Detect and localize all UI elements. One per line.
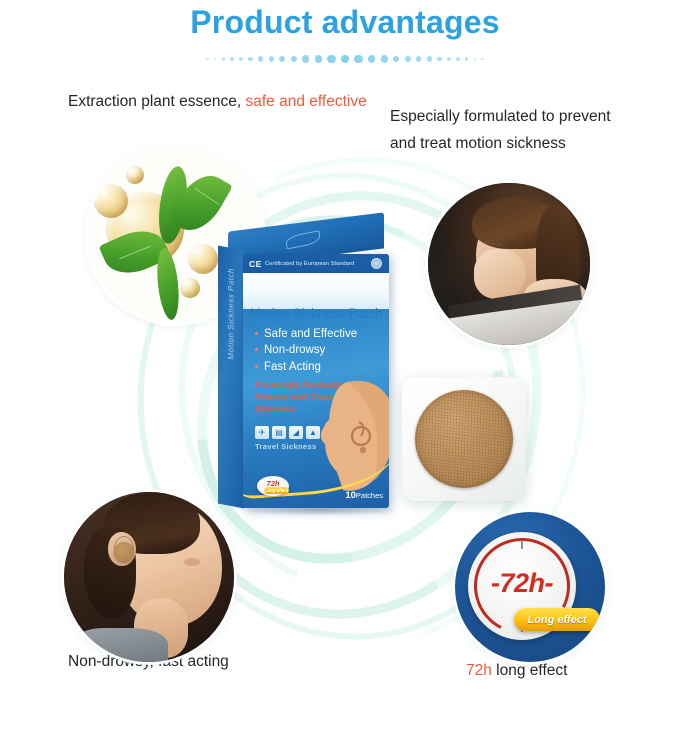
- divider-dot: [214, 58, 217, 61]
- divider-dot: [279, 56, 285, 62]
- patch-count: 10Patches: [345, 490, 383, 501]
- caption-bottom-right: 72h long effect: [466, 657, 676, 684]
- divider-dot: [327, 55, 335, 63]
- long-effect-ribbon: Long effect: [514, 608, 600, 631]
- box-product-title: Motion Sickness Patch: [243, 306, 389, 321]
- box-72h-badge: 72h Long effect: [257, 476, 289, 496]
- caption-top-left: Extraction plant essence, safe and effec…: [68, 88, 373, 115]
- caption-top-left-plain: Extraction plant essence,: [68, 93, 246, 110]
- divider-dot: [405, 56, 411, 62]
- caption-bottom-right-plain: long effect: [492, 662, 568, 679]
- certification-seal-icon: [371, 258, 382, 269]
- box-benefit-list: Safe and EffectiveNon-drowsyFast Acting: [255, 326, 357, 375]
- divider-dot: [341, 55, 350, 64]
- patch-pad: [415, 390, 513, 488]
- badge-hours-label: -72h-: [468, 568, 576, 599]
- divider-dot: [269, 56, 275, 62]
- box-benefit-item: Non-drowsy: [255, 342, 357, 358]
- box-front-face: CE Certificated by European Standard Mot…: [243, 254, 389, 508]
- caption-top-left-highlight: safe and effective: [246, 93, 367, 110]
- divider-dot: [456, 57, 460, 61]
- divider-dot: [437, 57, 442, 62]
- divider-dot: [354, 55, 362, 63]
- product-box: Motion Sickness Patch CE Certificated by…: [218, 222, 394, 512]
- badge-hours-text: 72h: [499, 568, 544, 598]
- box-white-panel: [243, 273, 389, 309]
- lid-emblem-icon: [286, 230, 321, 249]
- divider-dot: [230, 57, 234, 61]
- caption-top-right: Especially formulated to prevent and tre…: [390, 103, 640, 157]
- patch-count-unit: Patches: [356, 491, 383, 500]
- box-spine: Motion Sickness Patch: [218, 245, 244, 508]
- box-certification-bar: CE Certificated by European Standard: [243, 254, 389, 273]
- divider-dot: [315, 55, 323, 63]
- badge-dash-right: -: [545, 568, 554, 598]
- patch-count-number: 10: [345, 490, 356, 501]
- box-benefit-item: Fast Acting: [255, 359, 357, 375]
- divider-dot: [239, 57, 243, 61]
- divider-dot: [291, 56, 298, 63]
- gauge-dial: -72h- Long effect: [468, 532, 576, 640]
- ribbon-label: Long effect: [527, 614, 586, 626]
- divider-dot: [447, 57, 451, 61]
- divider-dot: [368, 55, 376, 63]
- divider-dot: [206, 58, 208, 60]
- divider-dot: [222, 57, 225, 60]
- decorative-dot-divider: [0, 52, 690, 66]
- divider-dot: [427, 56, 432, 61]
- box-benefit-item: Safe and Effective: [255, 326, 357, 342]
- divider-dot: [381, 55, 388, 62]
- page-title: Product advantages: [0, 4, 690, 41]
- divider-dot: [481, 58, 483, 60]
- divider-dot: [465, 57, 468, 60]
- advantages-poster: Product advantages Extraction plant esse…: [0, 0, 690, 700]
- woman-applying-patch-photo: [64, 492, 234, 662]
- adhesive-patch-closeup: [402, 377, 526, 501]
- box-badge-effect: Long effect: [264, 487, 289, 494]
- ce-mark: CE: [249, 259, 262, 269]
- divider-dot: [258, 56, 263, 61]
- divider-dot: [393, 56, 400, 63]
- motion-sickness-woman-photo: [428, 183, 590, 345]
- divider-dot: [248, 57, 253, 62]
- 72h-long-effect-badge: -72h- Long effect: [455, 512, 605, 662]
- box-spine-text: Motion Sickness Patch: [227, 301, 236, 361]
- divider-dot: [474, 58, 477, 61]
- divider-dot: [416, 56, 422, 62]
- certification-text: Certificated by European Standard: [265, 261, 354, 267]
- caption-bottom-right-highlight: 72h: [466, 662, 492, 679]
- divider-dot: [302, 55, 309, 62]
